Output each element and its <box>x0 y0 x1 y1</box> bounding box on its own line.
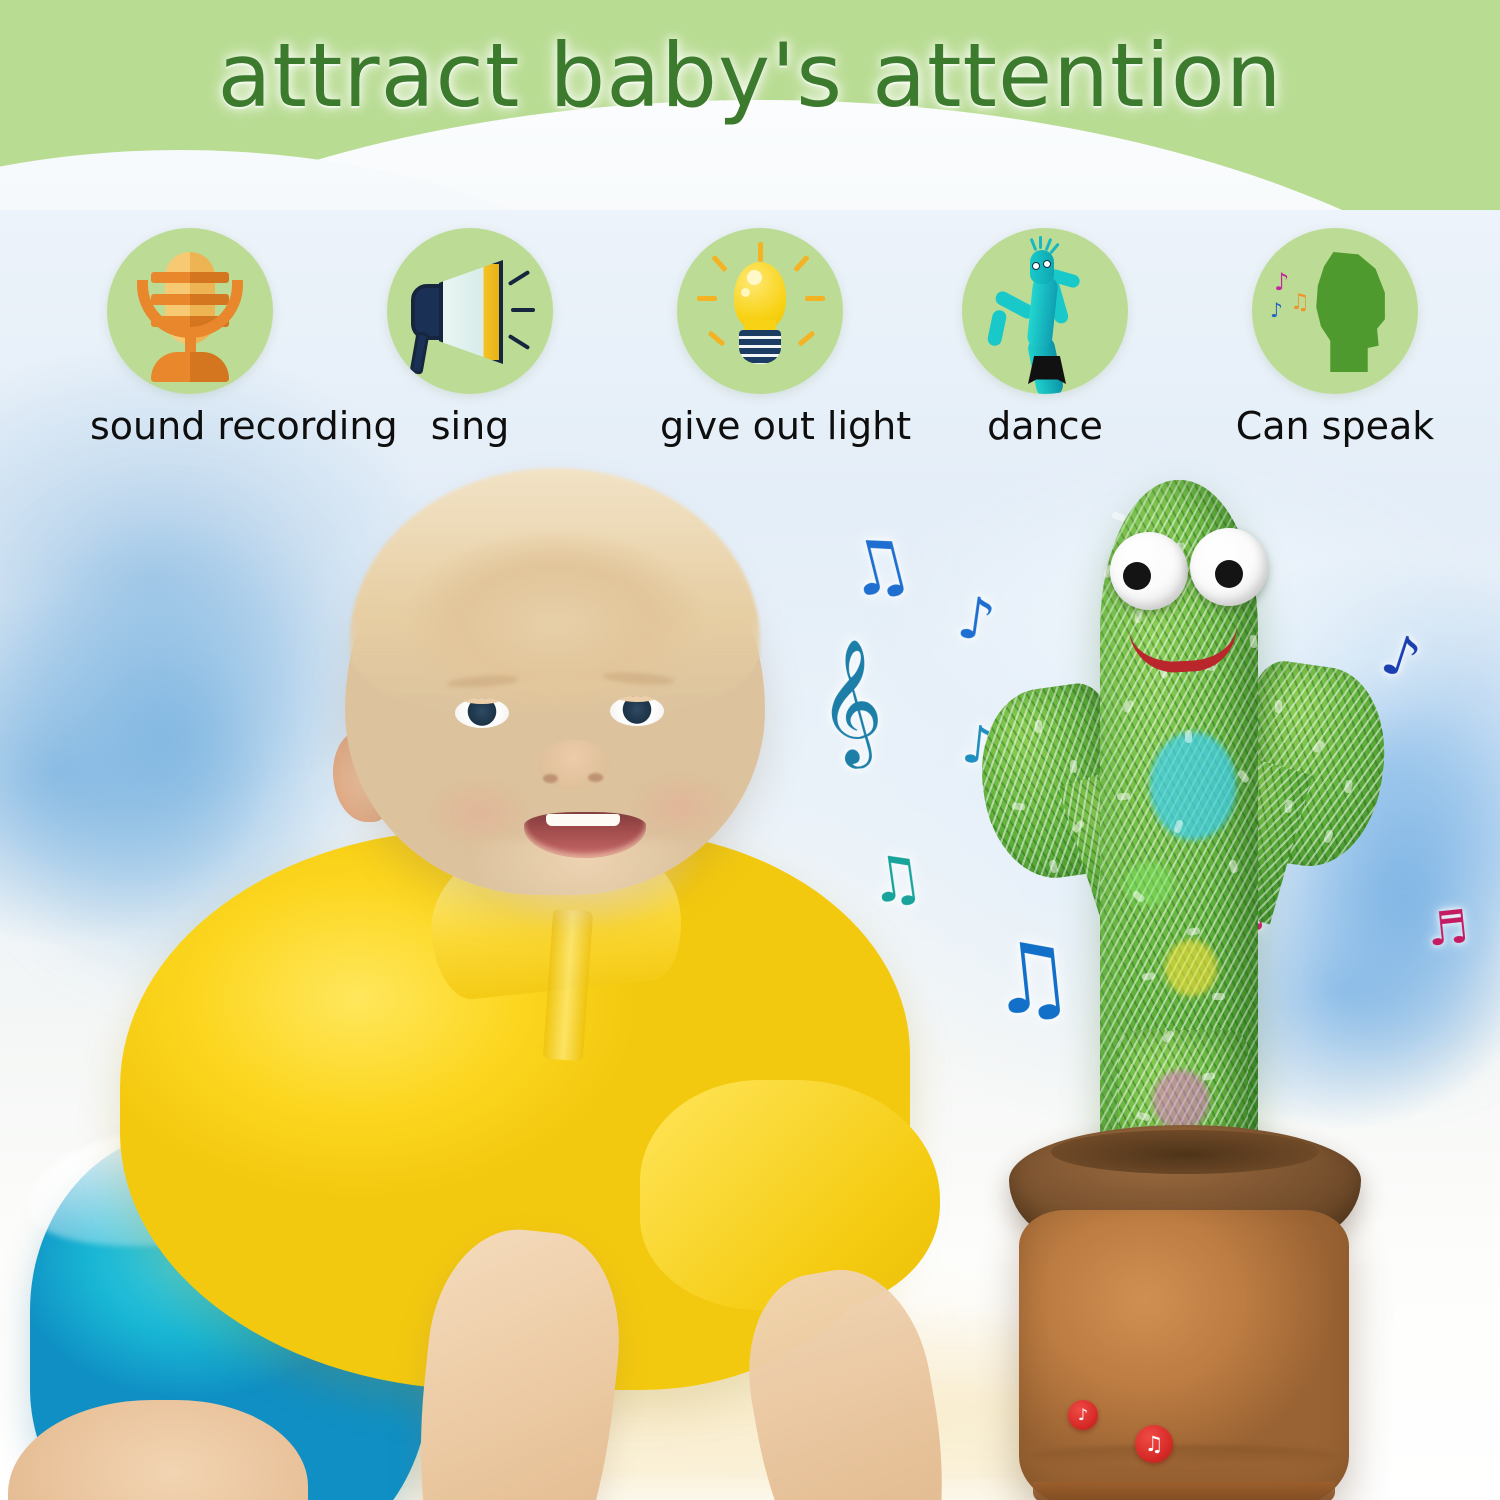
knit-speckle <box>1212 993 1225 1000</box>
knit-speckle <box>1117 792 1131 800</box>
cactus-right-pupil <box>1215 560 1243 588</box>
music-button-large[interactable]: ♫ <box>1135 1425 1173 1463</box>
knit-speckle <box>1069 760 1077 774</box>
pot-base <box>1033 1482 1335 1500</box>
dancing-cactus-toy[interactable]: ♪ ♫ <box>975 470 1395 1500</box>
knit-speckle <box>1275 700 1282 713</box>
feature-list: sound recording sing <box>0 228 1500 468</box>
baby-sleeve <box>640 1080 940 1310</box>
led-glow-pink <box>1153 1070 1209 1130</box>
microphone-icon <box>107 228 273 394</box>
led-glow-blue <box>1150 732 1236 840</box>
knit-speckle <box>1111 511 1126 522</box>
music-button-small[interactable]: ♪ <box>1068 1400 1098 1430</box>
led-glow-yellow <box>1165 940 1217 996</box>
baby-cheek <box>424 776 534 850</box>
dancing-figure-icon <box>962 228 1128 394</box>
feature-give-out-light[interactable]: give out light <box>660 228 860 448</box>
feature-can-speak[interactable]: ♪ ♫ ♪ Can speak <box>1235 228 1435 448</box>
megaphone-icon <box>387 228 553 394</box>
pot-seam <box>1031 1445 1337 1467</box>
product-feature-banner: ♫♪𝄞♪♫♫♫♪♪♬♬ ♪ ♫ attract baby's attention <box>0 0 1500 1500</box>
baby-nostril <box>543 774 558 783</box>
feature-sound-recording[interactable]: sound recording <box>90 228 290 448</box>
feature-label: Can speak <box>1235 404 1435 448</box>
baby-eye <box>610 696 664 726</box>
feature-sing[interactable]: sing <box>370 228 570 448</box>
feature-label: give out light <box>660 404 860 448</box>
feature-label: dance <box>945 404 1145 448</box>
baby-teeth <box>546 814 620 826</box>
music-note: ♫ <box>864 844 928 913</box>
feature-dance[interactable]: dance <box>945 228 1145 448</box>
music-note: ♬ <box>1425 903 1471 953</box>
feature-label: sound recording <box>90 404 290 448</box>
lightbulb-icon <box>677 228 843 394</box>
baby-hair <box>350 468 760 718</box>
pot-rim-inner <box>1051 1130 1319 1174</box>
page-title: attract baby's attention <box>0 24 1500 127</box>
baby-nostril <box>588 773 603 782</box>
knit-speckle <box>1185 730 1192 743</box>
feature-label: sing <box>370 404 570 448</box>
music-note: 𝄞 <box>814 646 885 758</box>
header-banner: attract baby's attention <box>0 0 1500 210</box>
baby-eye <box>455 698 509 728</box>
knit-speckle <box>1035 720 1042 733</box>
led-glow-green <box>1125 862 1173 906</box>
speaking-head-icon: ♪ ♫ ♪ <box>1252 228 1418 394</box>
cactus-left-pupil <box>1123 562 1151 590</box>
